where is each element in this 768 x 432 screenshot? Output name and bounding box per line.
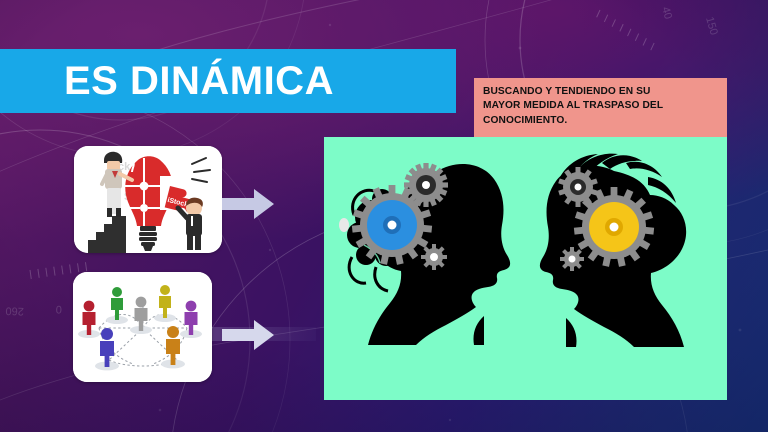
people-network-clipart[interactable] xyxy=(73,272,212,382)
male-brain-gear-small-bottom xyxy=(560,247,584,271)
callout-box: BUSCANDO Y TENDIENDO EN SU MAYOR MEDIDA … xyxy=(474,78,727,137)
right-arrow-icon xyxy=(222,318,274,352)
right-arrow-icon xyxy=(222,187,274,221)
female-brain-gear-small-bottom xyxy=(421,244,447,270)
slide-canvas: 260 0 150 40 ES DINÁMICA BUSCANDO Y TEND… xyxy=(0,0,768,432)
callout-line-3: CONOCIMIENTO. xyxy=(483,114,718,128)
people-network-artwork xyxy=(73,272,212,382)
arrow-to-main-bottom xyxy=(222,318,274,352)
title-banner: ES DINÁMICA xyxy=(0,49,456,113)
two-heads-gears-illustration xyxy=(324,137,727,400)
main-illustration-panel xyxy=(324,137,727,400)
callout-line-2: MAYOR MEDIDA AL TRASPASO DEL xyxy=(483,99,718,113)
puzzle-lightbulb-clipart[interactable]: ck to St iSt xyxy=(74,146,222,253)
callout-line-1: BUSCANDO Y TENDIENDO EN SU xyxy=(483,85,718,99)
page-title: ES DINÁMICA xyxy=(64,61,334,101)
arrow-to-main-top xyxy=(222,187,274,221)
puzzle-lightbulb-artwork: ck to St iSt xyxy=(74,146,222,253)
